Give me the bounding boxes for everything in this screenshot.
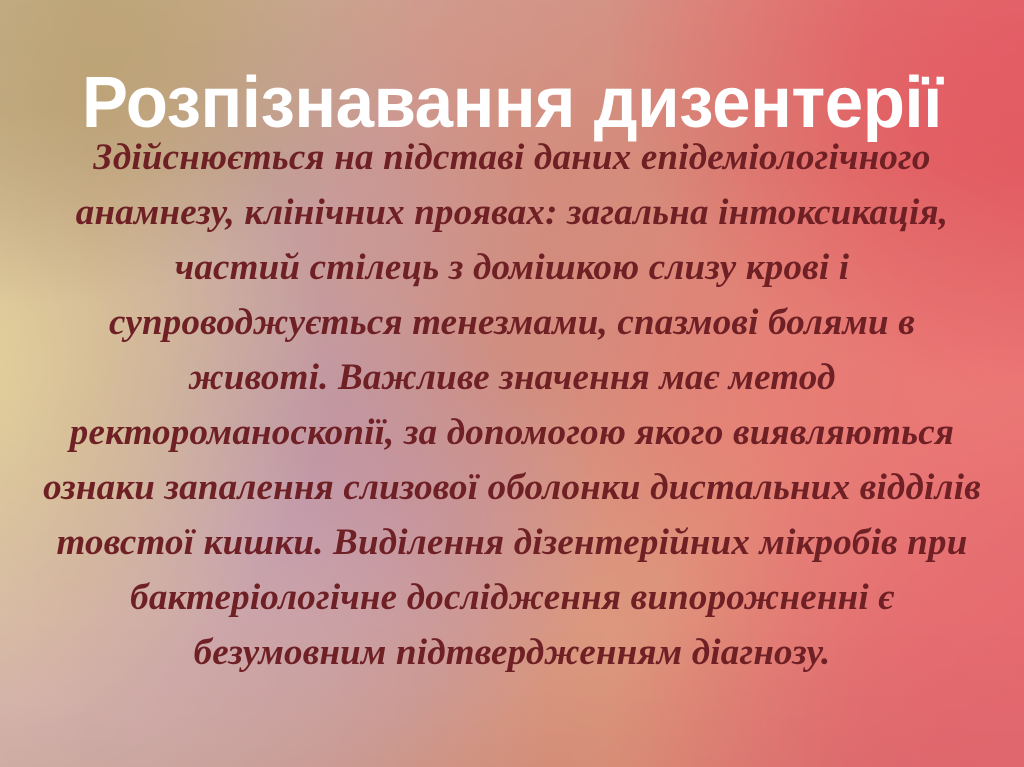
body-line: частий стілець з домішкою слизу крові і — [28, 240, 996, 295]
body-line: ректороманоскопії, за допомогою якого ви… — [28, 405, 996, 460]
body-line: бактеріологічне дослідження випорожненні… — [28, 570, 996, 625]
body-line: животі. Важливе значення має метод — [28, 350, 996, 405]
slide-canvas: Розпізнавання дизентерії Здійснюється на… — [0, 0, 1024, 767]
body-line: супроводжується тенезмами, спазмові боля… — [28, 295, 996, 350]
body-line: безумовним підтвердженням діагнозу. — [28, 625, 996, 680]
body-line: товстої кишки. Виділення дізентерійних м… — [28, 515, 996, 570]
body-line: Здійснюється на підставі даних епідеміол… — [28, 130, 996, 185]
body-line: анамнезу, клінічних проявах: загальна ін… — [28, 185, 996, 240]
slide-body-text: Здійснюється на підставі даних епідеміол… — [28, 130, 996, 680]
body-line: ознаки запалення слизової оболонки диста… — [28, 460, 996, 515]
